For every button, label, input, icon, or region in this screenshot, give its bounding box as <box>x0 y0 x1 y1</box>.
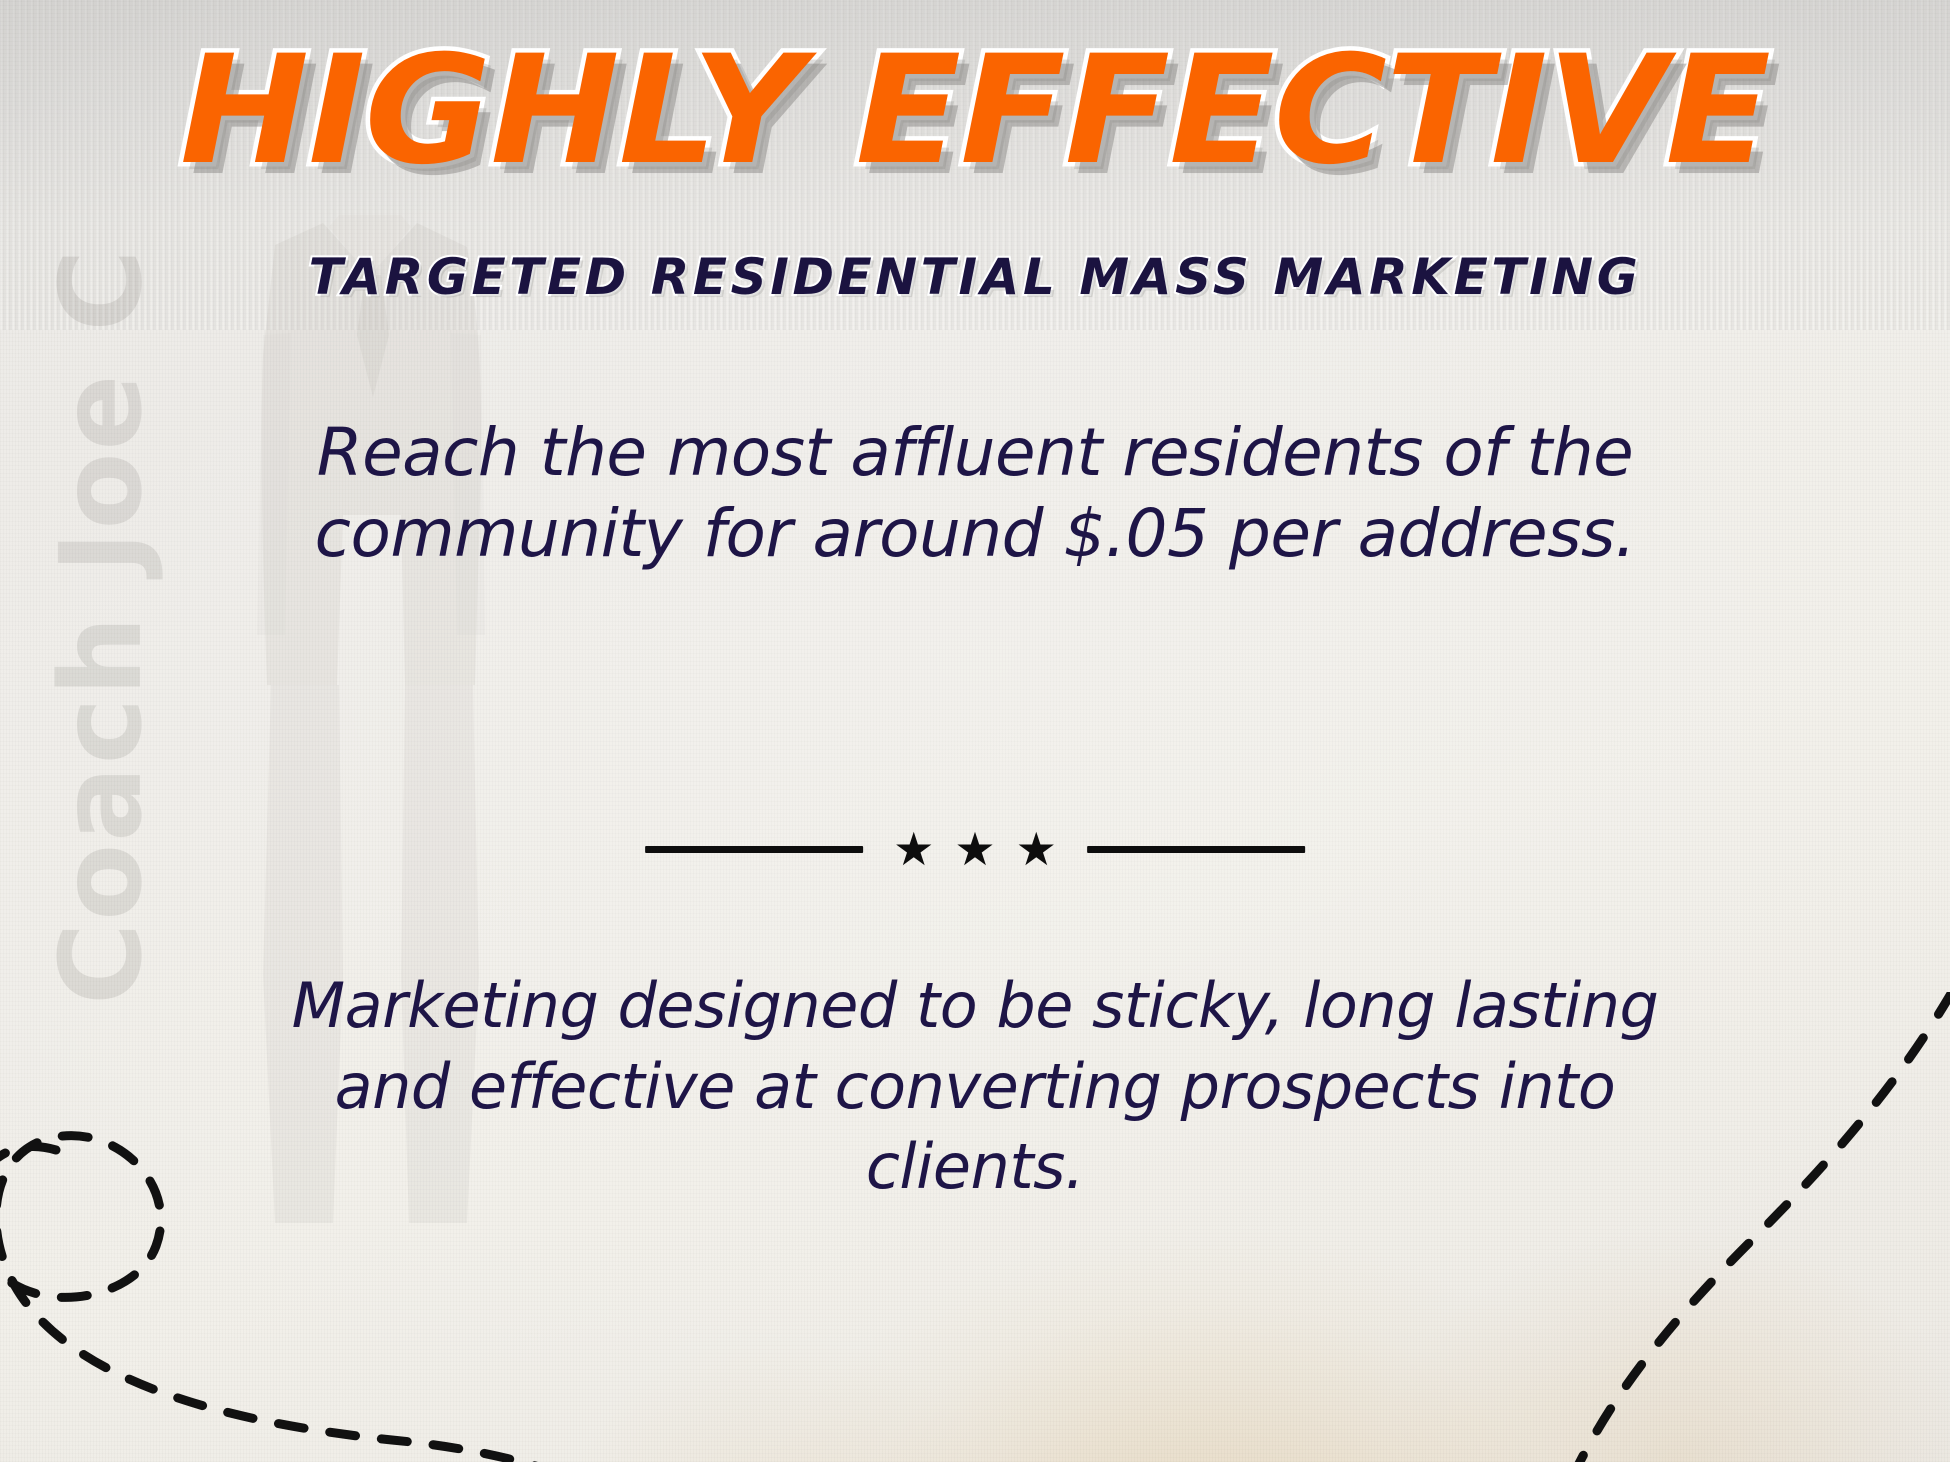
headline-container: HIGHLY EFFECTIVE <box>0 36 1950 186</box>
subheadline-text: TARGETED RESIDENTIAL MASS MARKETING <box>309 248 1642 306</box>
star-icon-3: ★ <box>1016 826 1057 872</box>
poster-canvas: Coach Joe C HIGHLY EFFECTIVE TARGETED RE… <box>0 0 1950 1462</box>
paragraph-pricing: Reach the most affluent residents of the… <box>225 412 1725 574</box>
page-title: HIGHLY EFFECTIVE <box>180 36 1770 186</box>
divider-stars: ★ ★ ★ <box>863 826 1087 872</box>
divider-rule-right <box>1087 846 1305 853</box>
star-divider: ★ ★ ★ <box>645 826 1305 872</box>
paragraph-benefits: Marketing designed to be sticky, long la… <box>275 966 1675 1208</box>
star-icon: ★ <box>893 826 934 872</box>
subheadline-container: TARGETED RESIDENTIAL MASS MARKETING <box>0 248 1950 306</box>
star-icon-2: ★ <box>954 826 995 872</box>
divider-rule-left <box>645 846 863 853</box>
